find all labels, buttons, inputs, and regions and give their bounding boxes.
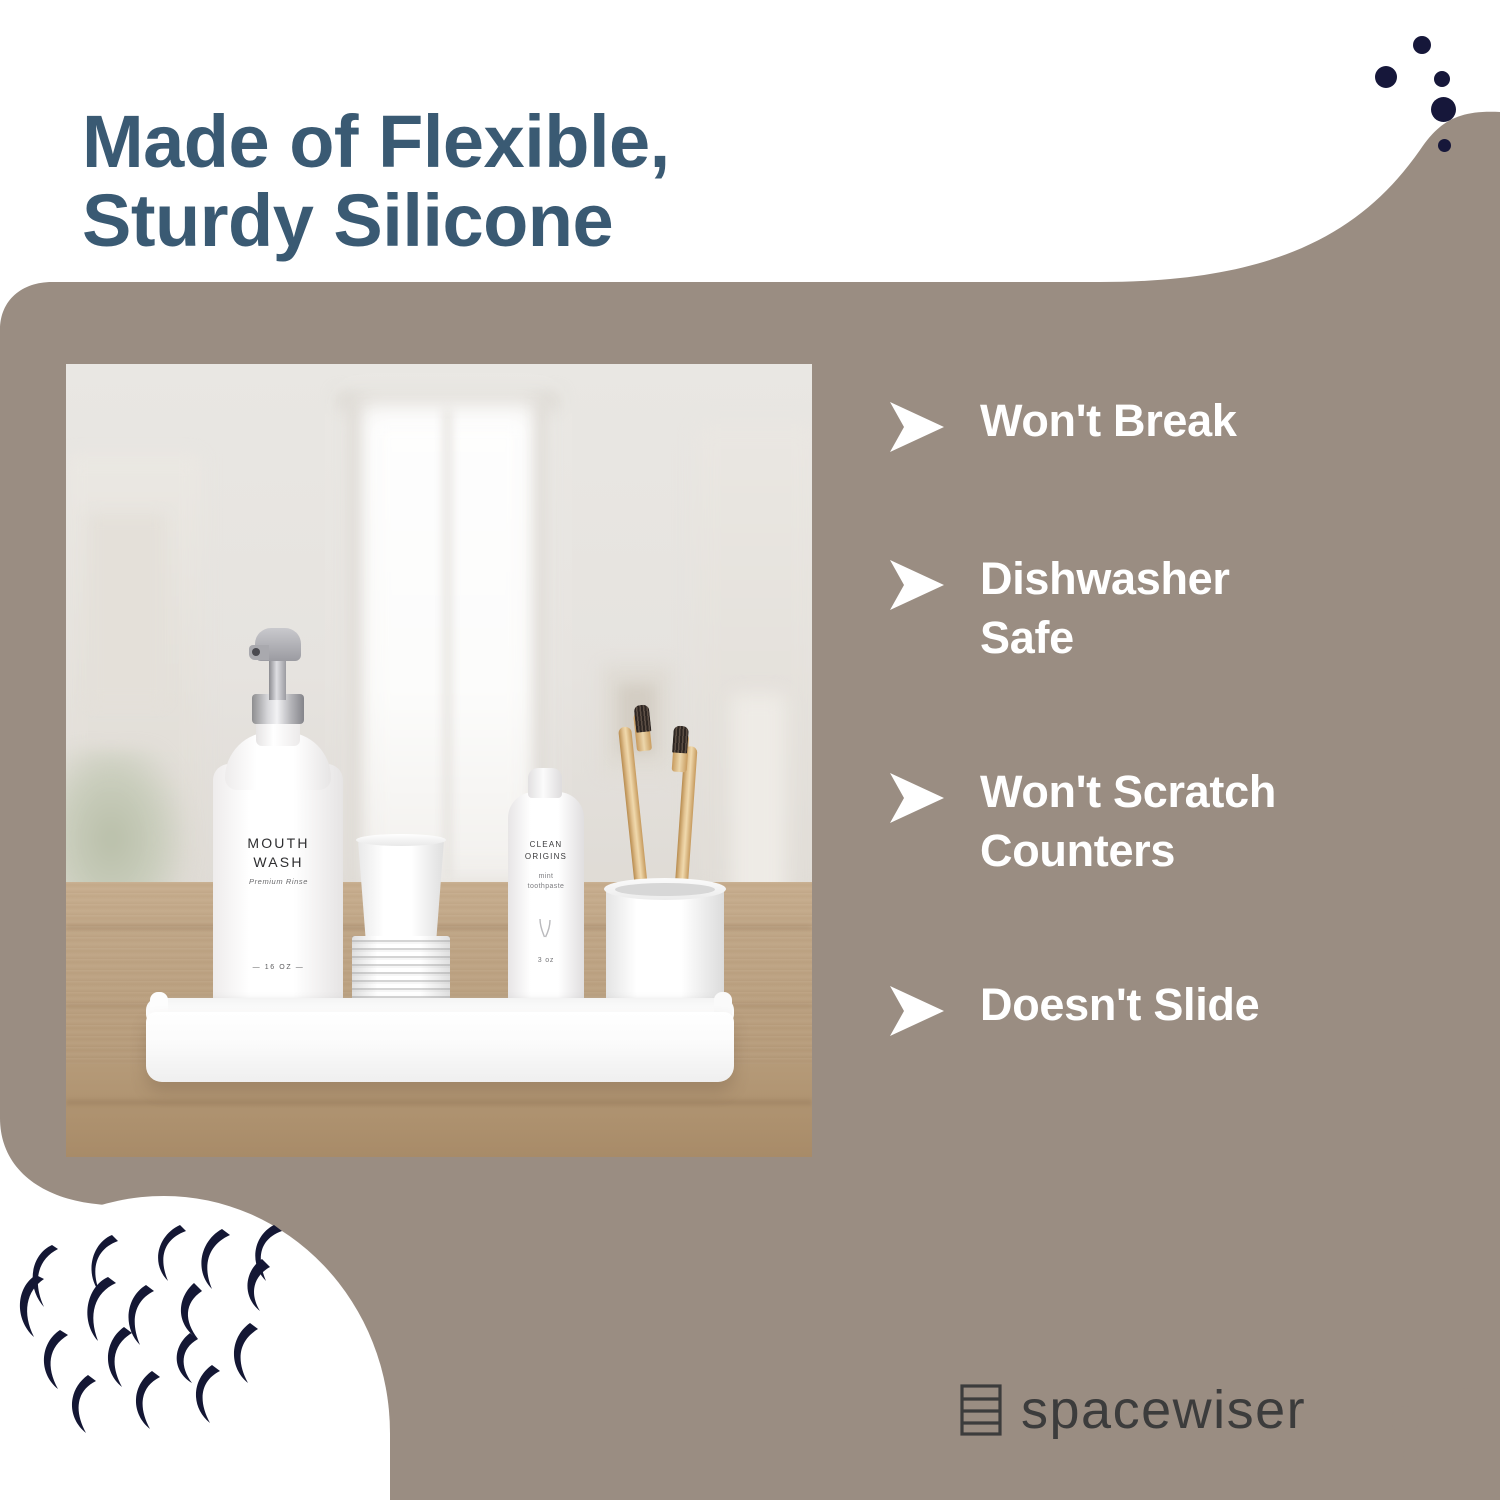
photo-left-frame xyxy=(88,514,166,704)
paper-cup-base xyxy=(356,834,446,846)
navy-dot-5 xyxy=(1438,139,1451,152)
feature-item-wont-break: Won't Break xyxy=(888,392,1418,454)
toothpaste-label: CLEAN ORIGINS mint toothpaste xyxy=(514,839,578,892)
feature-list: Won't Break Dishwasher Safe Won't Scratc… xyxy=(888,392,1418,1038)
photo-window-frame-left xyxy=(347,402,359,892)
photo-counter-grain xyxy=(66,1100,812,1105)
paper-cup-top xyxy=(358,840,444,940)
toothbrush-holder-rim-inner xyxy=(615,883,715,896)
infographic-canvas: Made of Flexible, Sturdy Silicone xyxy=(0,0,1500,1500)
feature-label: Doesn't Slide xyxy=(980,976,1259,1035)
mouthwash-label: MOUTH WASH Premium Rinse xyxy=(226,834,331,954)
taupe-dot-4 xyxy=(1403,1448,1418,1463)
navy-dot-2 xyxy=(1375,66,1397,88)
taupe-dot-1 xyxy=(1364,1379,1378,1393)
photo-right-curtain xyxy=(731,694,786,904)
toothpaste-desc-line2: toothpaste xyxy=(514,882,578,892)
navy-dot-4 xyxy=(1431,97,1456,122)
shelf-icon xyxy=(957,1383,1005,1437)
page-title: Made of Flexible, Sturdy Silicone xyxy=(82,102,670,262)
product-photo: MOUTH WASH Premium Rinse — 16 OZ — CLEAN… xyxy=(66,364,812,1157)
arrow-right-icon xyxy=(888,400,946,454)
toothpaste-tube xyxy=(508,792,584,1014)
mouthwash-title-line1: MOUTH xyxy=(226,834,331,853)
decorative-crescent-pattern xyxy=(0,1215,400,1500)
feature-label: Won't Scratch Counters xyxy=(980,763,1400,880)
taupe-dot-2 xyxy=(1458,1388,1477,1407)
arrow-right-icon xyxy=(888,558,946,612)
toothpaste-brand-line1: CLEAN xyxy=(514,839,578,851)
feature-item-doesnt-slide: Doesn't Slide xyxy=(888,976,1418,1038)
taupe-dot-5 xyxy=(1457,1451,1471,1465)
feature-label: Won't Break xyxy=(980,392,1237,451)
navy-dot-3 xyxy=(1434,71,1450,87)
mouthwash-title-line2: WASH xyxy=(226,853,331,872)
arrow-right-icon xyxy=(888,771,946,825)
silicone-tray-body xyxy=(146,1012,734,1082)
mouthwash-subtitle: Premium Rinse xyxy=(226,877,331,886)
toothpaste-volume: 3 oz xyxy=(514,957,578,964)
brand-name: spacewiser xyxy=(1021,1383,1306,1437)
navy-dot-1 xyxy=(1413,36,1431,54)
toothpaste-desc-line1: mint xyxy=(514,872,578,882)
brand-logo[interactable]: spacewiser xyxy=(957,1383,1306,1437)
feature-item-dishwasher-safe: Dishwasher Safe xyxy=(888,550,1418,667)
leaf-icon xyxy=(536,917,554,939)
mouthwash-volume: — 16 OZ — xyxy=(226,964,331,971)
toothbrush-bristles xyxy=(634,704,652,732)
feature-item-wont-scratch-counters: Won't Scratch Counters xyxy=(888,763,1418,880)
taupe-dot-3 xyxy=(1391,1406,1419,1434)
toothpaste-brand-line2: ORIGINS xyxy=(514,851,578,863)
toothbrush-bristles xyxy=(672,726,689,754)
toothpaste-cap xyxy=(528,768,562,798)
feature-label: Dishwasher Safe xyxy=(980,550,1310,667)
arrow-right-icon xyxy=(888,984,946,1038)
pump-nozzle-icon xyxy=(252,648,260,656)
photo-window-mullion xyxy=(444,409,451,879)
